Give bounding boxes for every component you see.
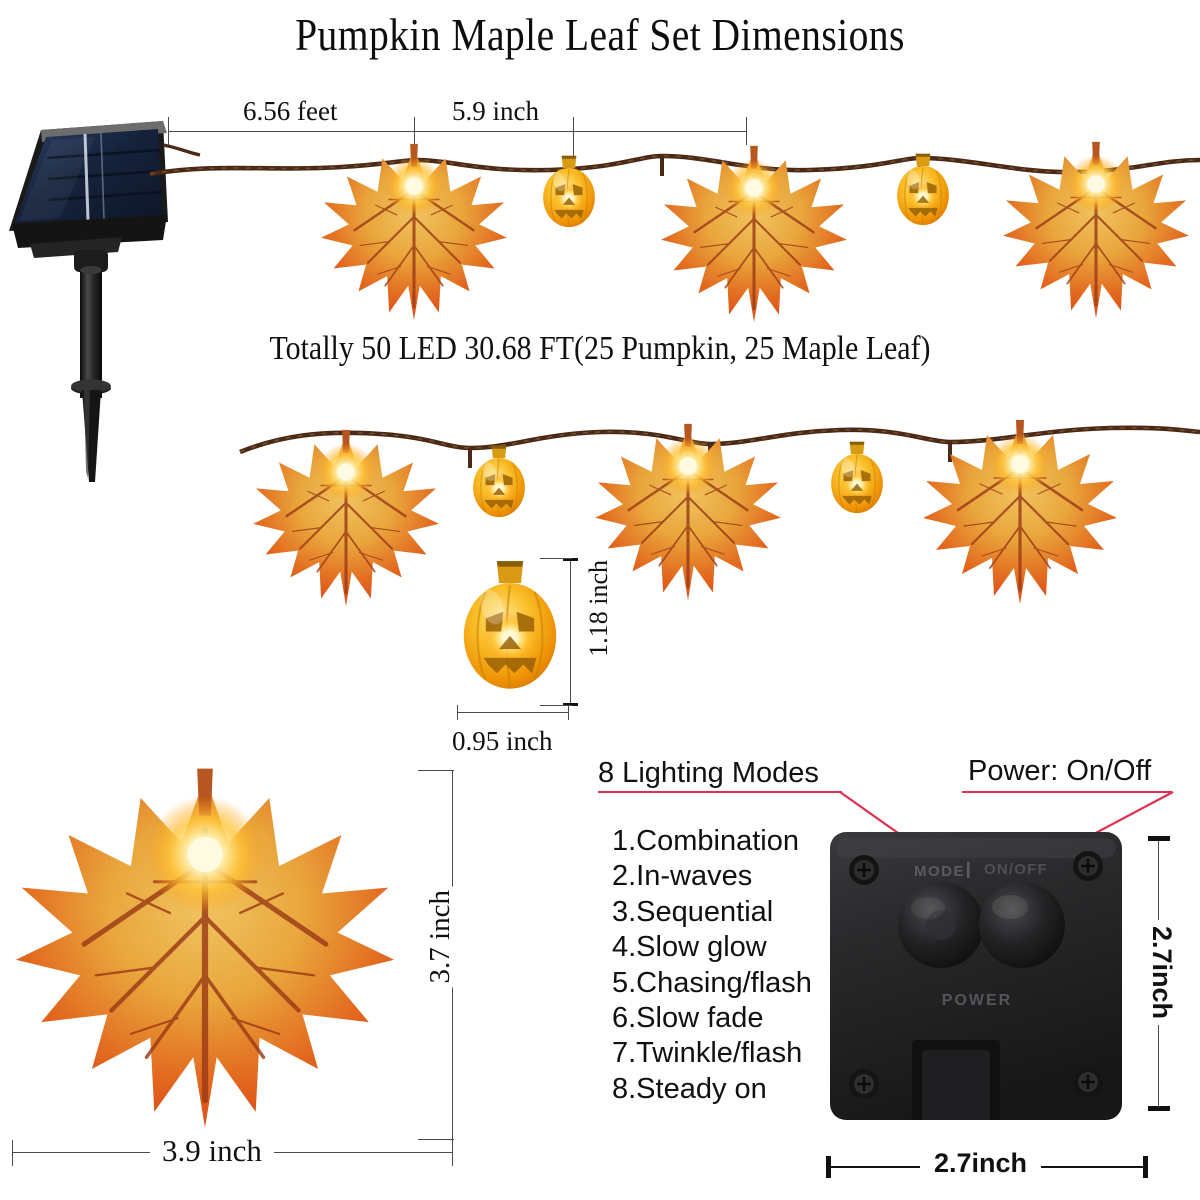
- mode-item: 7.Twinkle/flash: [612, 1036, 812, 1071]
- mode-item: 4.Slow glow: [612, 930, 812, 965]
- string-maple-leaf: [1000, 140, 1192, 322]
- dimension-box-height: 2.7inch: [1146, 920, 1177, 1025]
- svg-text:ON/OFF: ON/OFF: [984, 861, 1048, 878]
- mode-item: 5.Chasing/flash: [612, 966, 812, 1001]
- mode-item: 3.Sequential: [612, 895, 812, 930]
- mode-item: 2.In-waves: [612, 859, 812, 894]
- dimension-box-width: 2.7inch: [920, 1148, 1041, 1179]
- dimension-leaf-height: 3.7 inch: [424, 886, 457, 987]
- string-pumpkin: [826, 438, 888, 518]
- mode-item: 1.Combination: [612, 824, 812, 859]
- pumpkin-detail: [455, 552, 565, 700]
- string-maple-leaf: [920, 418, 1120, 608]
- string-maple-leaf: [318, 142, 510, 324]
- string-pumpkin: [538, 152, 600, 232]
- page-title: Pumpkin Maple Leaf Set Dimensions: [84, 8, 1116, 61]
- maple-leaf-detail: [10, 762, 400, 1138]
- lighting-modes-title: 8 Lighting Modes: [598, 757, 819, 790]
- dimension-pumpkin-height: 1.18 inch: [584, 560, 614, 657]
- control-box: MODE ON/OFF POWER: [826, 828, 1126, 1128]
- string-maple-leaf: [592, 422, 784, 604]
- power-title: Power: On/Off: [968, 755, 1151, 788]
- svg-text:MODE: MODE: [914, 863, 965, 880]
- string-pumpkin: [892, 150, 954, 230]
- dimension-lead-wire: 6.56 feet: [243, 96, 337, 127]
- string-pumpkin: [468, 442, 530, 522]
- mode-item: 6.Slow fade: [612, 1001, 812, 1036]
- svg-text:POWER: POWER: [942, 992, 1012, 1009]
- string-maple-leaf: [658, 144, 850, 326]
- dimension-leaf-width: 3.9 inch: [150, 1133, 274, 1169]
- modes-leader-underline: [598, 791, 842, 793]
- mode-item: 8.Steady on: [612, 1072, 812, 1107]
- dimension-pumpkin-width: 0.95 inch: [452, 726, 553, 757]
- light-string-row-1: [150, 130, 1200, 330]
- infographic-canvas: Pumpkin Maple Leaf Set Dimensions 6.56 f…: [0, 0, 1200, 1200]
- string-maple-leaf: [250, 428, 442, 610]
- total-led-caption: Totally 50 LED 30.68 FT(25 Pumpkin, 25 M…: [72, 330, 1128, 368]
- dimension-spacing: 5.9 inch: [452, 96, 539, 127]
- light-string-row-2: [240, 400, 1200, 600]
- lighting-modes-list: 1.Combination 2.In-waves 3.Sequential 4.…: [612, 824, 812, 1107]
